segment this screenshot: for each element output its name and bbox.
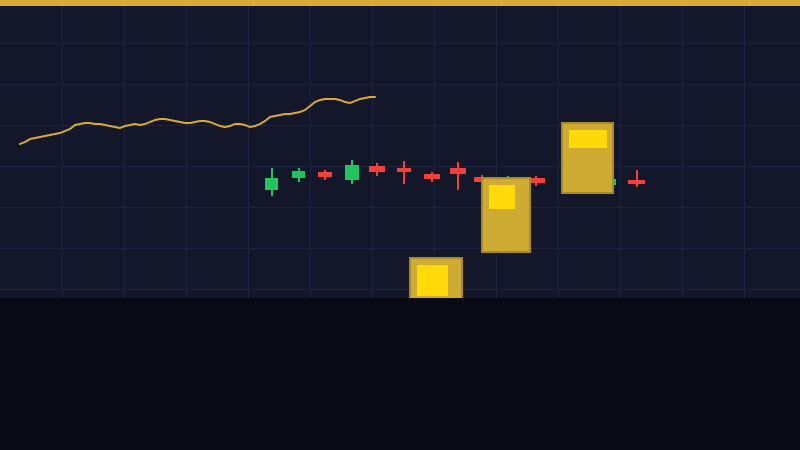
historical-price-line xyxy=(0,6,800,298)
screenshot-root: Gold Price Prediction 2026 Forecast xmsi… xyxy=(0,0,800,450)
candlestick-up[interactable] xyxy=(265,168,278,196)
forecast-box[interactable] xyxy=(481,177,531,253)
candle-body xyxy=(265,178,278,190)
candlestick-down[interactable] xyxy=(628,170,645,187)
candle-body xyxy=(345,165,359,180)
candle-body xyxy=(292,171,305,178)
candlestick-down[interactable] xyxy=(318,170,332,180)
candlestick-down[interactable] xyxy=(369,163,385,176)
candle-body xyxy=(397,168,411,172)
candle-wick xyxy=(457,162,459,190)
candlestick-up[interactable] xyxy=(345,160,359,184)
price-chart-panel[interactable] xyxy=(0,6,800,298)
forecast-box-highlight xyxy=(417,265,448,296)
candle-wick xyxy=(636,170,638,187)
candle-body xyxy=(628,180,645,184)
candle-body xyxy=(424,174,440,179)
forecast-box-highlight xyxy=(569,130,607,148)
candlestick-down[interactable] xyxy=(450,162,466,190)
candlestick-down[interactable] xyxy=(424,172,440,182)
forecast-box-highlight xyxy=(489,185,515,209)
candle-body xyxy=(369,166,385,172)
title-banner: Gold Price Prediction 2026 Forecast xmsi… xyxy=(0,298,800,450)
forecast-box[interactable] xyxy=(561,122,614,194)
candle-wick xyxy=(403,161,405,184)
candlestick-up[interactable] xyxy=(292,168,305,182)
candle-body xyxy=(450,168,466,174)
forecast-box[interactable] xyxy=(409,257,463,298)
candlestick-down[interactable] xyxy=(397,161,411,184)
candle-body xyxy=(318,172,332,177)
